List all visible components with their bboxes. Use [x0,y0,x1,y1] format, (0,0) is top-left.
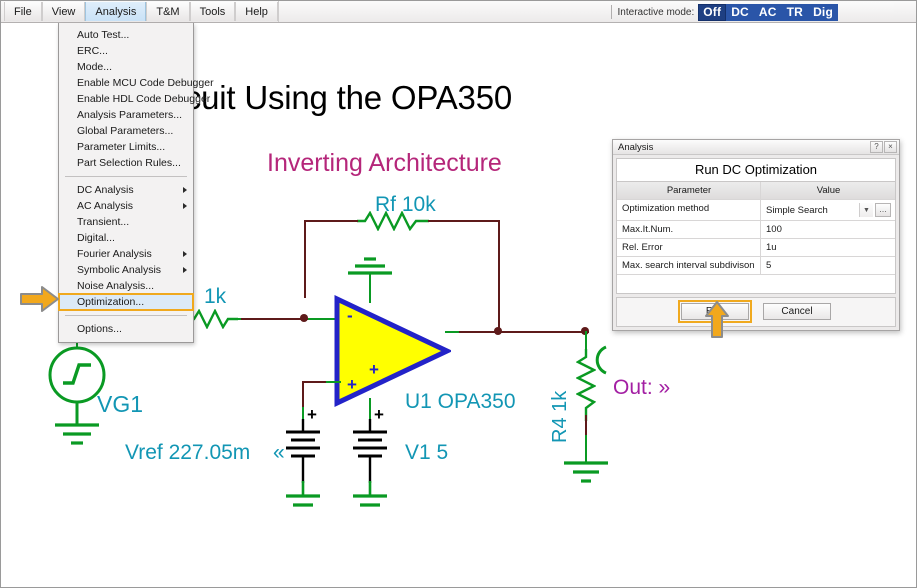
opamp-inverting-sign: - [347,306,353,326]
dialog-heading: Run DC Optimization [616,158,896,182]
chevron-down-icon[interactable]: ▼ [859,203,873,217]
menu-item-digital[interactable]: Digital... [59,230,193,246]
label-vref: Vref 227.05m [125,441,250,465]
wire-inverting-input [241,318,308,320]
dialog-titlebar[interactable]: Analysis ? × [613,140,899,155]
menu-item-ac-analysis-label: AC Analysis [77,200,133,212]
wire-rf-left [304,220,358,222]
menu-item-symbolic-analysis[interactable]: Symbolic Analysis [59,262,193,278]
menu-item-optimization[interactable]: Optimization... [59,294,193,310]
param-value-max-search-interval[interactable]: 5 [761,257,895,274]
interactive-mode-label: Interactive mode: [618,7,695,18]
menu-help[interactable]: Help [235,2,278,21]
ellipsis-button[interactable]: … [875,203,891,217]
menu-item-enable-mcu-code-debugger[interactable]: Enable MCU Code Debugger [59,75,193,91]
combo-value-optimization-method: Simple Search [766,205,859,216]
cancel-button[interactable]: Cancel [763,303,831,320]
menu-item-ac-analysis[interactable]: AC Analysis [59,198,193,214]
imode-button-ac[interactable]: AC [754,4,782,21]
input-max-it-num[interactable]: 100 [766,224,891,235]
input-max-search-interval[interactable]: 5 [766,260,891,271]
menu-item-fourier-analysis[interactable]: Fourier Analysis [59,246,193,262]
resistor-rf[interactable] [357,211,429,231]
column-header-parameter: Parameter [617,182,761,199]
column-header-value: Value [761,182,895,199]
out-chevron-icon: » [659,376,671,399]
menu-item-analysis-parameters[interactable]: Analysis Parameters... [59,107,193,123]
battery-vref-plus-sign: + [307,405,317,425]
param-label-max-search-interval: Max. search interval subdivison [617,257,761,274]
toolbar-tail [838,2,894,22]
menu-file[interactable]: File [4,2,42,21]
param-value-rel-error[interactable]: 1u [761,239,895,256]
menu-view[interactable]: View [42,2,86,21]
param-value-max-it-num[interactable]: 100 [761,221,895,238]
pointer-arrow-up-icon [704,301,730,339]
opamp-supply-sign: + [369,360,379,380]
menu-separator-1 [65,176,187,177]
analysis-dropdown-menu[interactable]: Auto Test... ERC... Mode... Enable MCU C… [58,23,194,343]
table-row: Optimization method Simple Search ▼ … [617,200,895,221]
param-label-rel-error: Rel. Error [617,239,761,256]
menu-item-dc-analysis-label: DC Analysis [77,184,134,196]
imode-button-dc[interactable]: DC [726,4,754,21]
param-label-max-it-num: Max.It.Num. [617,221,761,238]
output-probe-icon[interactable] [590,345,612,375]
menu-item-mode[interactable]: Mode... [59,59,193,75]
menu-item-global-parameters[interactable]: Global Parameters... [59,123,193,139]
menu-item-fourier-analysis-label: Fourier Analysis [77,248,152,260]
label-r-input: 1k [204,285,226,309]
menu-tm[interactable]: T&M [146,2,189,21]
label-vg1: VG1 [97,391,143,418]
menu-item-enable-hdl-code-debugger[interactable]: Enable HDL Code Debugger [59,91,193,107]
dialog-button-bar: Run Cancel [616,297,896,327]
table-row-empty [617,275,895,293]
submenu-arrow-icon [183,267,187,273]
pin-opamp-inv [308,318,336,320]
input-rel-error[interactable]: 1u [766,242,891,253]
menu-tools[interactable]: Tools [190,2,236,21]
menu-item-options[interactable]: Options... [59,321,193,337]
dialog-body: Run DC Optimization Parameter Value Opti… [613,155,899,330]
label-r4: R4 1k [549,391,572,443]
menu-item-transient[interactable]: Transient... [59,214,193,230]
menu-item-parameter-limits[interactable]: Parameter Limits... [59,139,193,155]
interactive-mode-toolbar: Interactive mode: Off DC AC TR Dig [611,2,894,22]
battery-v1[interactable]: + [346,419,394,509]
table-row: Max.It.Num. 100 [617,221,895,239]
ground-symbol-r4 [562,459,610,487]
pointer-arrow-right-icon [20,286,60,312]
dialog-title: Analysis [618,142,869,153]
wire-noninv-down [302,381,304,409]
table-header-row: Parameter Value [617,182,895,200]
menu-item-erc[interactable]: ERC... [59,43,193,59]
battery-vref[interactable]: + [279,419,327,509]
imode-button-tr[interactable]: TR [782,4,808,21]
table-row: Rel. Error 1u [617,239,895,257]
label-v1: V1 5 [405,441,448,465]
ground-symbol-vminus [346,247,394,275]
menu-item-noise-analysis[interactable]: Noise Analysis... [59,278,193,294]
table-row: Max. search interval subdivison 5 [617,257,895,275]
out-text: Out: [613,376,653,399]
wire-rf-right-down [498,220,500,332]
menu-item-auto-test[interactable]: Auto Test... [59,27,193,43]
menu-item-symbolic-analysis-label: Symbolic Analysis [77,264,161,276]
wire-rf-left-down [304,220,306,298]
submenu-arrow-icon [183,251,187,257]
wire-rf-right [428,220,500,222]
toolbar-separator [611,5,612,19]
wire-output [459,331,589,333]
opamp-noninverting-sign: + [347,375,357,395]
submenu-arrow-icon [183,203,187,209]
junction-feedback [494,327,502,335]
param-label-optimization-method: Optimization method [617,200,761,220]
param-value-optimization-method[interactable]: Simple Search ▼ … [761,200,895,220]
close-icon[interactable]: × [884,141,897,153]
menu-separator-2 [65,315,187,316]
help-icon[interactable]: ? [870,141,883,153]
imode-button-off[interactable]: Off [698,4,726,21]
application-window: File View Analysis T&M Tools Help Intera… [0,0,917,588]
wire-noninv [302,381,326,383]
menu-analysis[interactable]: Analysis [85,2,146,21]
label-opamp: U1 OPA350 [405,390,516,414]
junction-inverting [300,314,308,322]
battery-v1-plus-sign: + [374,405,384,425]
submenu-arrow-icon [183,187,187,193]
menu-item-part-selection-rules[interactable]: Part Selection Rules... [59,155,193,171]
menu-item-dc-analysis[interactable]: DC Analysis [59,182,193,198]
schematic-subtitle: Inverting Architecture [267,149,502,178]
label-out: Out: » [613,376,670,400]
imode-button-dig[interactable]: Dig [808,4,838,21]
parameter-table: Parameter Value Optimization method Simp… [616,182,896,294]
analysis-dialog[interactable]: Analysis ? × Run DC Optimization Paramet… [612,139,900,331]
